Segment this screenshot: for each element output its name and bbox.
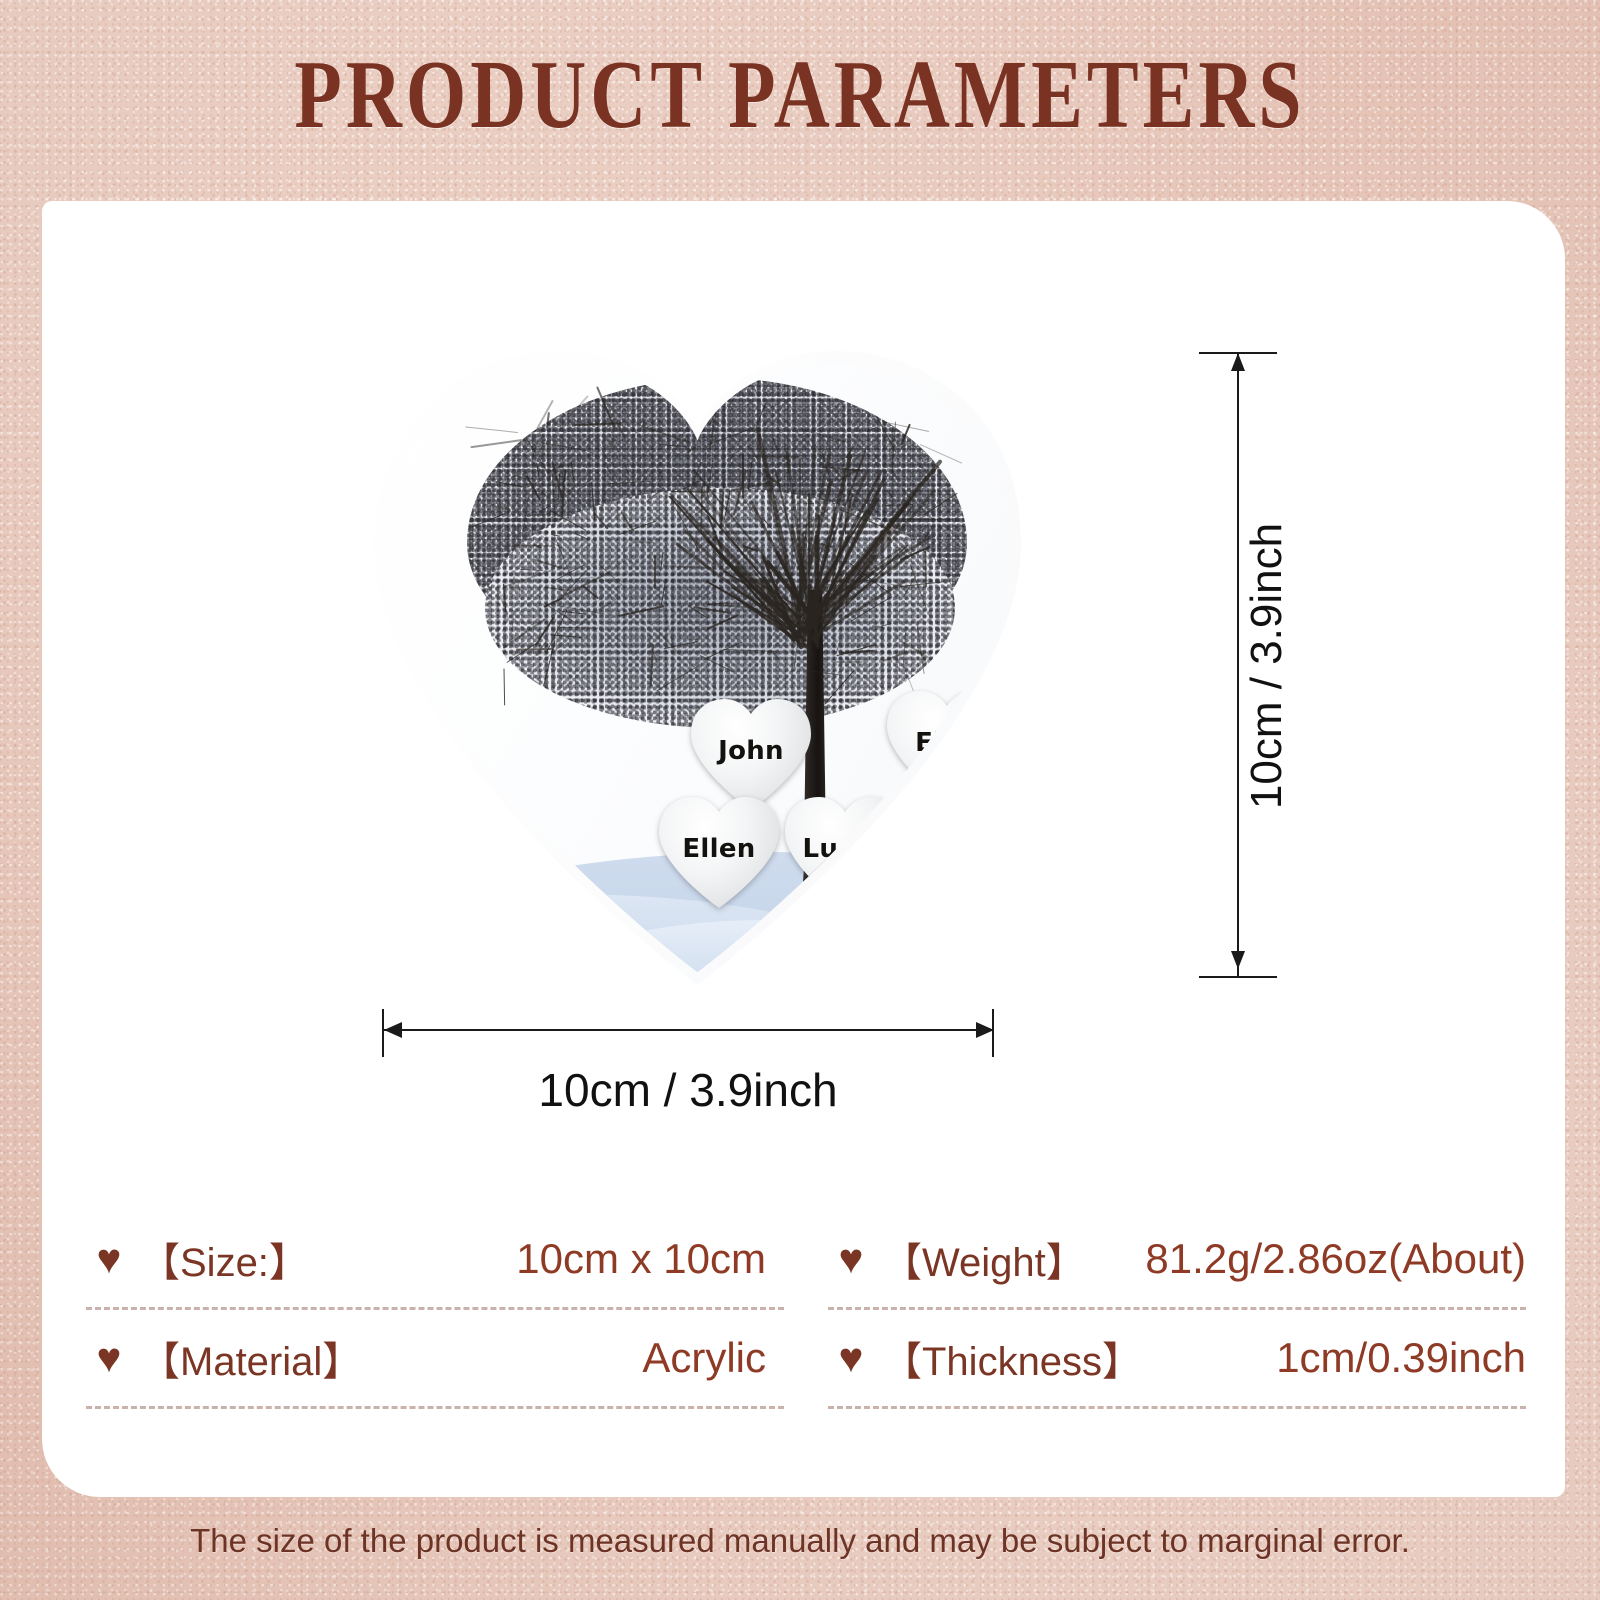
heart-icon: ♥ — [828, 1338, 874, 1378]
heart-icon: ♥ — [86, 1338, 132, 1378]
spec-row: ♥【Size:】10cm x 10cm — [86, 1211, 784, 1307]
tree-branch — [503, 668, 505, 705]
product-illustration: JohnEllieEllenLucasNova Our Family a lit… — [42, 201, 1565, 1141]
arrow-right-icon — [976, 1022, 994, 1038]
tree-branch — [510, 468, 532, 469]
spec-label: 【Thickness】 — [882, 1329, 1142, 1387]
spec-value: 10cm x 10cm — [516, 1235, 766, 1283]
heart-icon: ♥ — [828, 1239, 874, 1279]
spec-label: 【Material】 — [140, 1329, 362, 1387]
arrow-down-icon — [1231, 951, 1245, 969]
plaque-inner-face: JohnEllieEllenLucasNova Our Family a lit… — [387, 358, 1008, 972]
name-heart-label: John — [718, 736, 784, 766]
row-divider — [828, 1406, 1526, 1409]
horizontal-dimension: 10cm / 3.9inch — [374, 1001, 1034, 1141]
tree-branch — [654, 554, 656, 588]
spec-column-left: ♥【Size:】10cm x 10cm♥【Material】Acrylic — [86, 1211, 784, 1409]
page-title: PRODUCT PARAMETERS — [160, 46, 1440, 143]
spec-label: 【Size:】 — [140, 1230, 309, 1288]
row-divider — [86, 1406, 784, 1409]
heart-icon: ♥ — [86, 1239, 132, 1279]
spec-table: ♥【Size:】10cm x 10cm♥【Material】Acrylic ♥【… — [86, 1211, 1526, 1409]
name-heart-label: Nova — [921, 836, 996, 866]
footer-note: The size of the product is measured manu… — [0, 1522, 1600, 1560]
dimension-line-vertical — [1237, 353, 1239, 977]
name-heart-john: John — [691, 698, 811, 810]
spec-row: ♥【Thickness】1cm/0.39inch — [828, 1310, 1526, 1406]
tree-branch — [924, 550, 927, 586]
content-card: JohnEllieEllenLucasNova Our Family a lit… — [42, 201, 1565, 1497]
spec-row: ♥【Material】Acrylic — [86, 1310, 784, 1406]
name-heart-nova: Nova — [899, 798, 1008, 910]
name-heart-label: Ellen — [682, 834, 755, 864]
spec-value: 1cm/0.39inch — [1276, 1334, 1526, 1382]
vertical-dimension-label: 10cm / 3.9inch — [1242, 446, 1292, 886]
spec-column-right: ♥【Weight】81.2g/2.86oz(About)♥【Thickness】… — [828, 1211, 1526, 1409]
vertical-dimension: 10cm / 3.9inch — [1187, 345, 1367, 985]
spec-row: ♥【Weight】81.2g/2.86oz(About) — [828, 1211, 1526, 1307]
arrow-left-icon — [384, 1022, 402, 1038]
arrow-up-icon — [1231, 353, 1245, 371]
heart-icon — [899, 798, 1008, 910]
horizontal-dimension-label: 10cm / 3.9inch — [374, 1063, 1002, 1117]
spec-label: 【Weight】 — [882, 1230, 1086, 1288]
heart-acrylic-plaque: JohnEllieEllenLucasNova Our Family a lit… — [374, 345, 1021, 985]
spec-value: 81.2g/2.86oz(About) — [1145, 1235, 1526, 1283]
tree-branch — [465, 426, 518, 433]
dimension-line-horizontal — [382, 1029, 994, 1031]
spec-value: Acrylic — [642, 1334, 766, 1382]
name-heart-ellen: Ellen — [659, 796, 779, 908]
